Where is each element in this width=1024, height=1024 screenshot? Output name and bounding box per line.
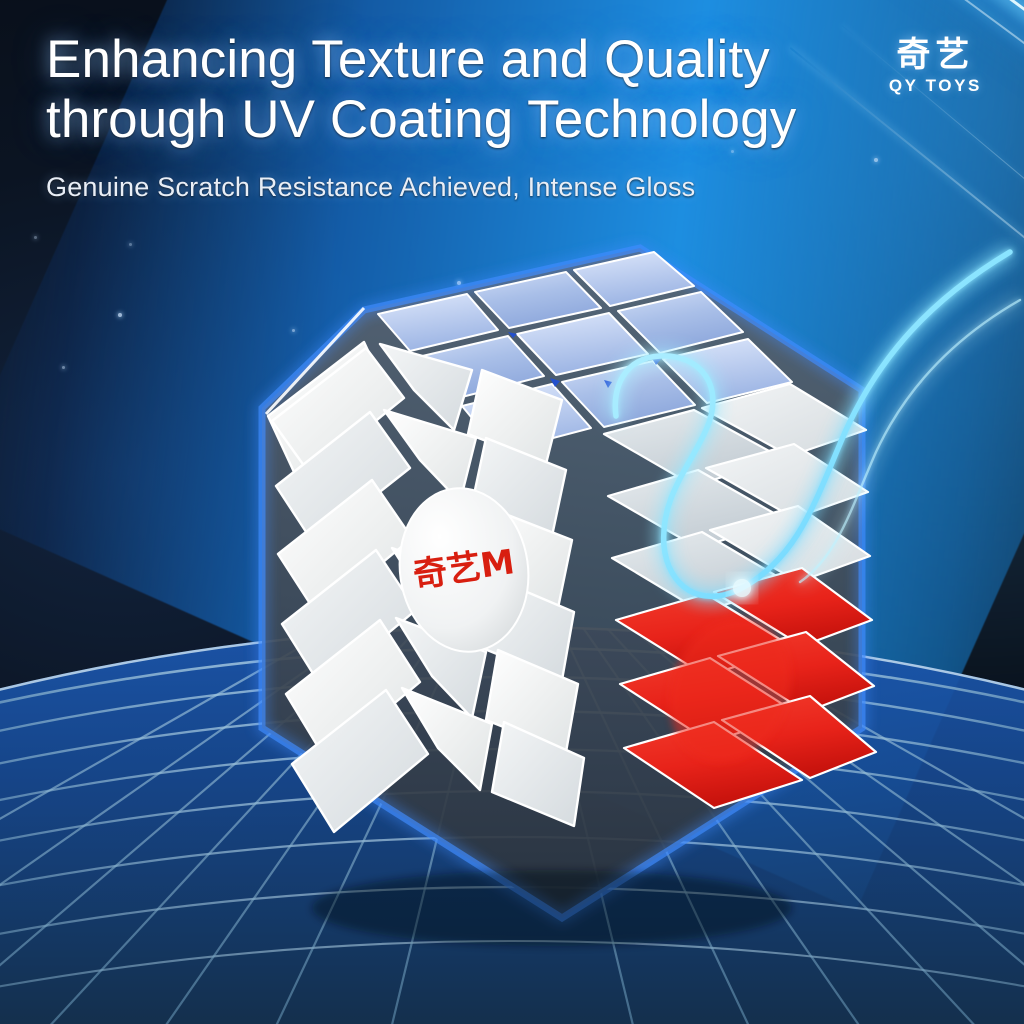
star-particle [62,366,65,369]
product-banner: 奇艺M [0,0,1024,1024]
brand-logo-english: QY TOYS [889,76,982,96]
star-particle [34,236,37,239]
star-particle [129,243,132,246]
headline-block: Enhancing Texture and Quality through UV… [46,30,906,203]
subheadline: Genuine Scratch Resistance Achieved, Int… [46,172,906,203]
brand-logo: 奇艺 QY TOYS [889,38,982,96]
headline-line-2: through UV Coating Technology [46,90,906,150]
cube-contact-shadow [312,870,792,946]
star-particle [118,313,122,317]
rubiks-cube-product: 奇艺M [142,258,882,958]
headline-line-1: Enhancing Texture and Quality [46,30,906,90]
brand-logo-chinese: 奇艺 [889,38,982,72]
